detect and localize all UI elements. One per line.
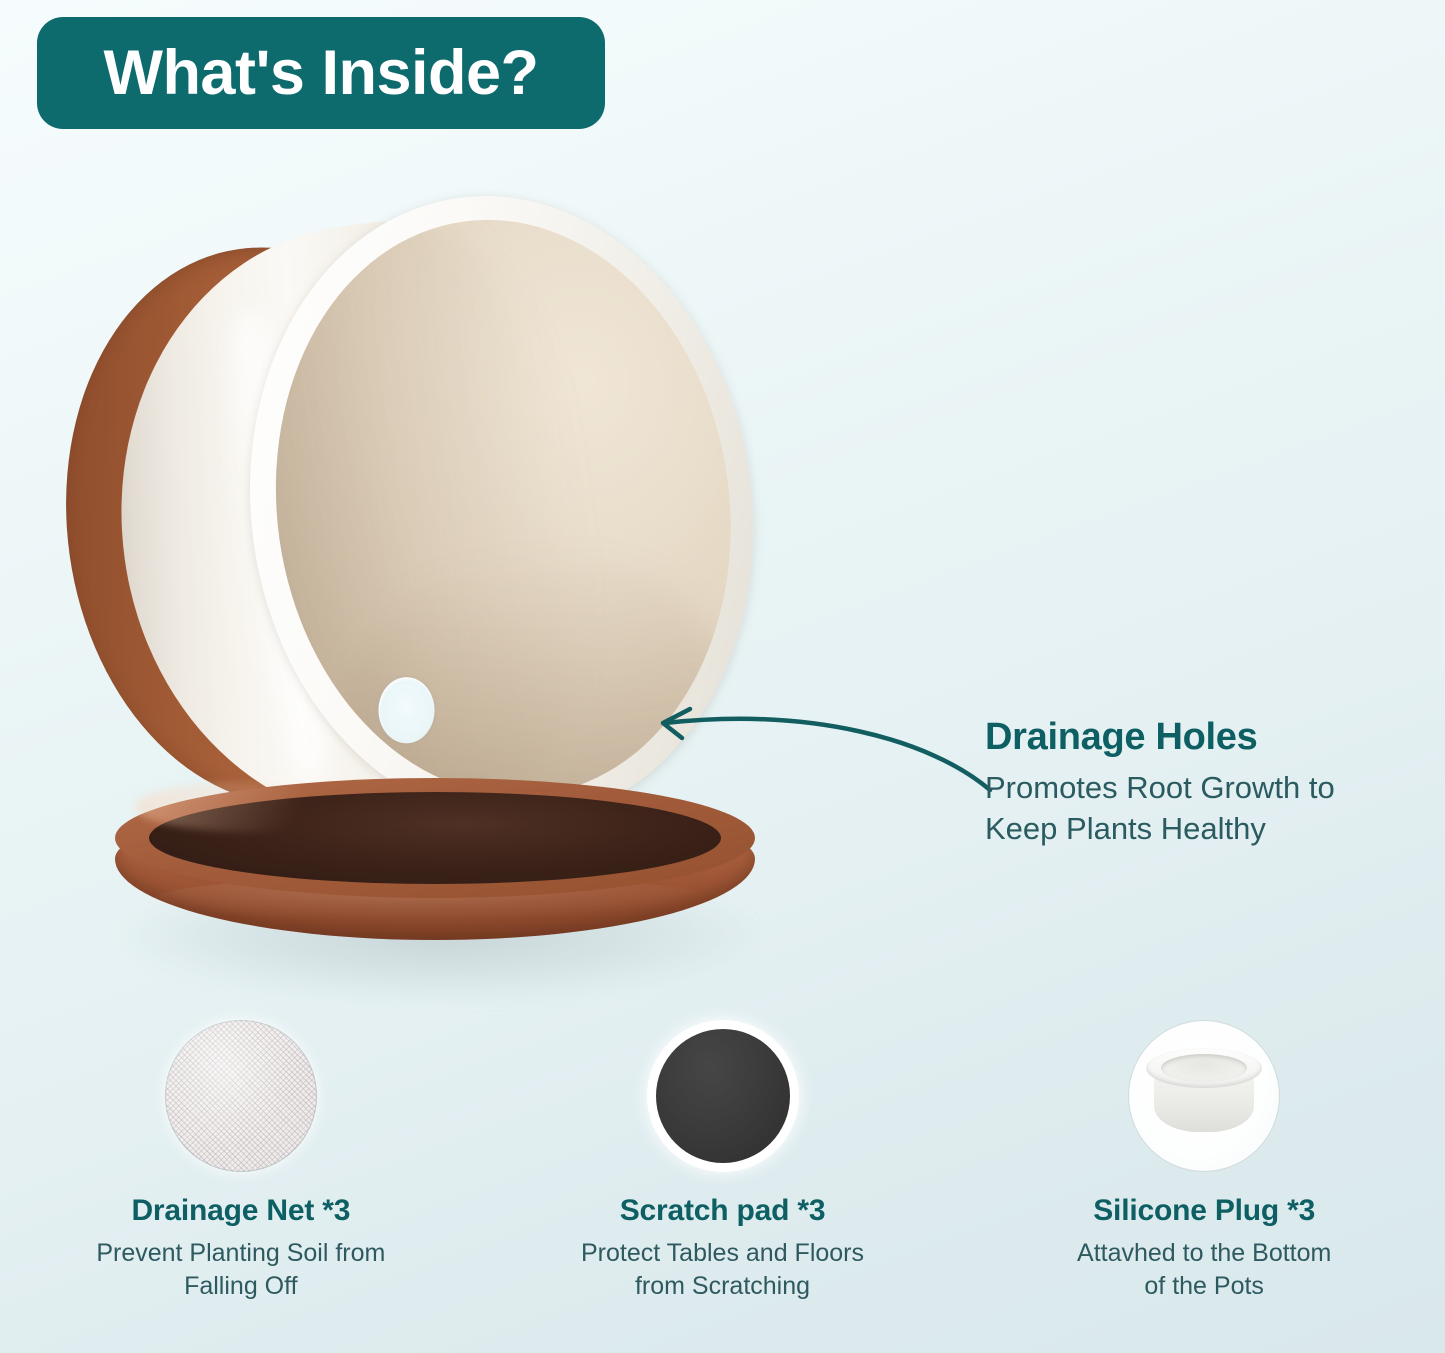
feature-description-line-2: Falling Off	[96, 1270, 385, 1303]
feature-description: Prevent Planting Soil from Falling Off	[96, 1237, 385, 1303]
callout-title: Drainage Holes	[985, 715, 1405, 760]
drainage-net-icon	[165, 1020, 317, 1172]
feature-description: Protect Tables and Floors from Scratchin…	[581, 1237, 864, 1303]
feature-silicone-plug: Silicone Plug *3 Attavhed to the Bottom …	[963, 1020, 1445, 1303]
plug-mouth	[1161, 1054, 1247, 1082]
callout-description-line-2: Keep Plants Healthy	[985, 809, 1405, 850]
callout-description: Promotes Root Growth to Keep Plants Heal…	[985, 768, 1405, 850]
hero-product-scene: Drainage Holes Promotes Root Growth to K…	[0, 150, 1445, 1010]
feature-description-line-2: of the Pots	[1077, 1270, 1331, 1303]
feature-description-line-1: Attavhed to the Bottom	[1077, 1237, 1331, 1270]
feature-description-line-1: Prevent Planting Soil from	[96, 1237, 385, 1270]
silicone-plug-icon	[1128, 1020, 1280, 1172]
drainage-hole	[379, 677, 435, 743]
drainage-holes-callout: Drainage Holes Promotes Root Growth to K…	[985, 715, 1405, 850]
whats-inside-badge: What's Inside?	[37, 17, 605, 129]
feature-title: Drainage Net *3	[131, 1194, 350, 1228]
feature-description-line-2: from Scratching	[581, 1270, 864, 1303]
callout-description-line-1: Promotes Root Growth to	[985, 768, 1405, 809]
scratch-pad-icon	[647, 1020, 799, 1172]
feature-scratch-pad: Scratch pad *3 Protect Tables and Floors…	[482, 1020, 964, 1303]
saucer-rim-highlight	[135, 782, 365, 832]
curved-arrow-left-icon	[630, 705, 1000, 815]
feature-title: Silicone Plug *3	[1093, 1194, 1315, 1228]
feature-drainage-net: Drainage Net *3 Prevent Planting Soil fr…	[0, 1020, 482, 1303]
page-title: What's Inside?	[103, 42, 538, 105]
product-image	[35, 170, 815, 1000]
feature-title: Scratch pad *3	[620, 1194, 826, 1228]
feature-description: Attavhed to the Bottom of the Pots	[1077, 1237, 1331, 1303]
feature-description-line-1: Protect Tables and Floors	[581, 1237, 864, 1270]
included-accessories-row: Drainage Net *3 Prevent Planting Soil fr…	[0, 1020, 1445, 1303]
